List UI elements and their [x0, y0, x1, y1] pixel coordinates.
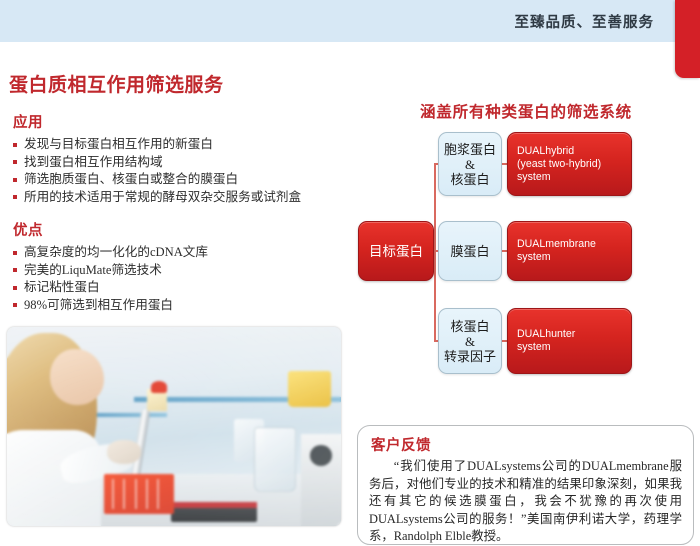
- diagram-node-system-dualhunter: DUALhuntersystem: [507, 308, 632, 374]
- list-item: 筛选胞质蛋白、核蛋白或整合的膜蛋白: [13, 171, 350, 188]
- right-content-column: 涵盖所有种类蛋白的筛选系统 目标蛋白 胞浆蛋白&核蛋白 膜蛋白 核蛋白&转录因子…: [352, 48, 700, 526]
- diagram-node-label: DUALhybrid(yeast two-hybrid)system: [508, 145, 631, 184]
- diagram-node-category-1: 胞浆蛋白&核蛋白: [438, 132, 502, 196]
- list-item: 找到蛋白相互作用结构域: [13, 154, 350, 171]
- list-item: 98%可筛选到相互作用蛋白: [13, 297, 350, 314]
- diagram-title: 涵盖所有种类蛋白的筛选系统: [352, 100, 700, 122]
- diagram-node-system-dualmembrane: DUALmembranesystem: [507, 221, 632, 281]
- diagram-node-label: 胞浆蛋白&核蛋白: [439, 142, 501, 187]
- list-item: 标记粘性蛋白: [13, 279, 350, 296]
- feedback-title: 客户反馈: [371, 434, 682, 455]
- applications-list: 发现与目标蛋白相互作用的新蛋白 找到蛋白相互作用结构域 筛选胞质蛋白、核蛋白或整…: [0, 136, 350, 205]
- list-item: 完美的LiquMate筛选技术: [13, 262, 350, 279]
- diagram-node-label: DUALmembranesystem: [508, 238, 631, 264]
- diagram-node-category-3: 核蛋白&转录因子: [438, 308, 502, 374]
- diagram-node-label: 膜蛋白: [439, 244, 501, 259]
- list-item: 所用的技术适用于常规的酵母双杂交服务或试剂盒: [13, 189, 350, 206]
- laboratory-photo: [7, 327, 341, 526]
- diagram-node-target-protein: 目标蛋白: [358, 221, 434, 281]
- advantages-list: 高复杂度的均一化化的cDNA文库 完美的LiquMate筛选技术 标记粘性蛋白 …: [0, 244, 350, 313]
- list-item: 发现与目标蛋白相互作用的新蛋白: [13, 136, 350, 153]
- diagram-node-label: 目标蛋白: [359, 245, 433, 258]
- customer-feedback-box: 客户反馈 “我们使用了DUALsystems公司的DUALmembrane服务后…: [357, 425, 694, 545]
- header-tagline: 至臻品质、至善服务: [515, 11, 655, 32]
- diagram-node-system-dualhybrid: DUALhybrid(yeast two-hybrid)system: [507, 132, 632, 196]
- section-heading-advantages: 优点: [13, 219, 350, 240]
- list-item: 高复杂度的均一化化的cDNA文库: [13, 244, 350, 261]
- left-content-column: 蛋白质相互作用筛选服务 应用 发现与目标蛋白相互作用的新蛋白 找到蛋白相互作用结…: [0, 48, 350, 314]
- feedback-quote: “我们使用了DUALsystems公司的DUALmembrane服务后，对他们专…: [369, 458, 682, 546]
- diagram-node-label: DUALhuntersystem: [508, 328, 631, 354]
- diagram-node-label: 核蛋白&转录因子: [439, 319, 501, 364]
- screening-systems-diagram: 目标蛋白 胞浆蛋白&核蛋白 膜蛋白 核蛋白&转录因子 DUALhybrid(ye…: [352, 130, 700, 402]
- page-title: 蛋白质相互作用筛选服务: [9, 70, 350, 97]
- connector-trunk: [434, 163, 436, 341]
- section-heading-applications: 应用: [13, 111, 350, 132]
- diagram-node-category-2: 膜蛋白: [438, 221, 502, 281]
- photo-soft-focus-overlay: [7, 327, 341, 526]
